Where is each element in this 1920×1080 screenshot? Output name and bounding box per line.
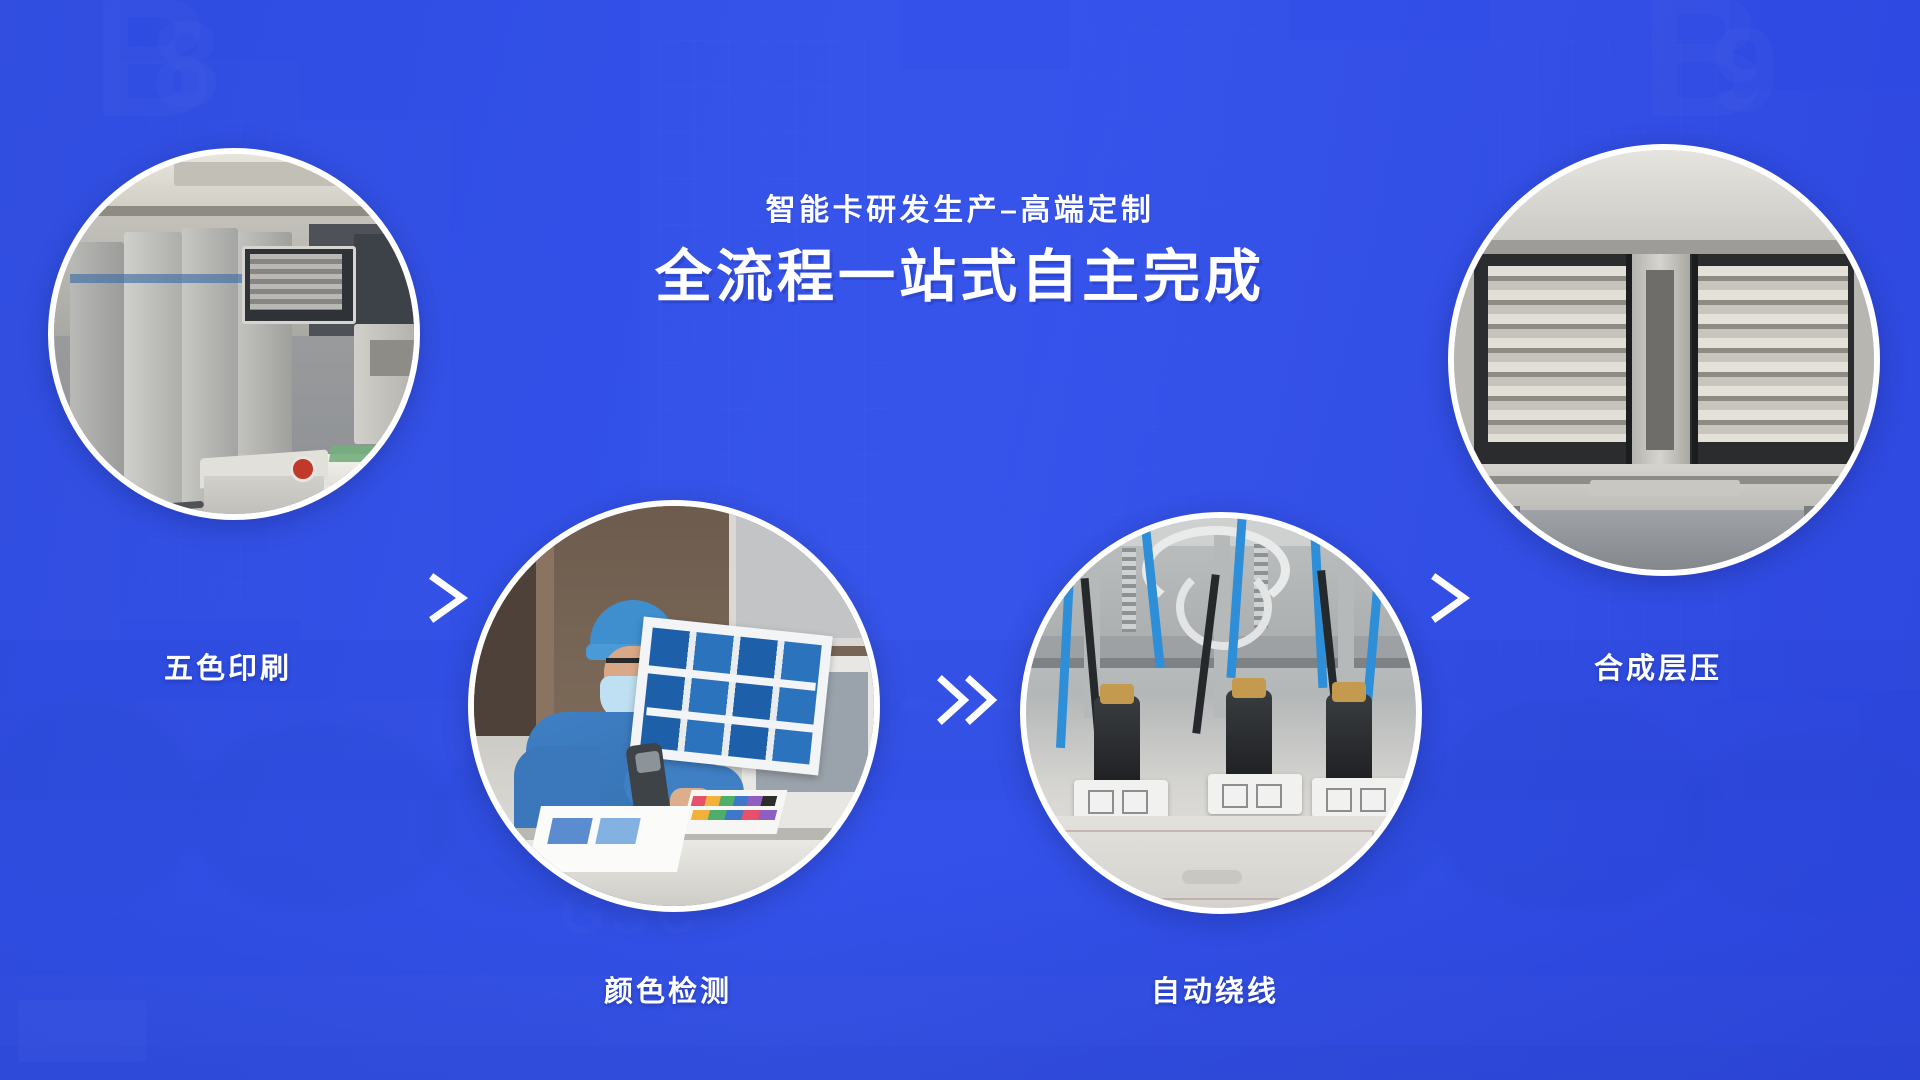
step-4-caption: 合成层压	[1538, 645, 1778, 687]
color-inspection-photo	[474, 506, 874, 906]
headline-block: 智能卡研发生产–高端定制 全流程一站式自主完成	[0, 192, 1920, 311]
step-3-image[interactable]	[1020, 512, 1422, 914]
step-2-caption: 颜色检测	[548, 968, 788, 1010]
connector-2-icon	[936, 672, 1004, 728]
connector-3-icon	[1430, 572, 1478, 624]
connector-1-icon	[428, 572, 476, 624]
banner-stage: B 8 B 9 浙 GSC 智能卡研发生产–高端定制 全流程一站式自主完成	[0, 0, 1920, 1080]
step-2-image[interactable]	[468, 500, 880, 912]
step-1-caption: 五色印刷	[108, 645, 348, 687]
auto-winding-photo	[1026, 518, 1416, 908]
banner-subtitle: 智能卡研发生产–高端定制	[0, 192, 1920, 230]
step-3-caption: 自动绕线	[1095, 968, 1335, 1010]
banner-headline: 全流程一站式自主完成	[0, 244, 1920, 311]
